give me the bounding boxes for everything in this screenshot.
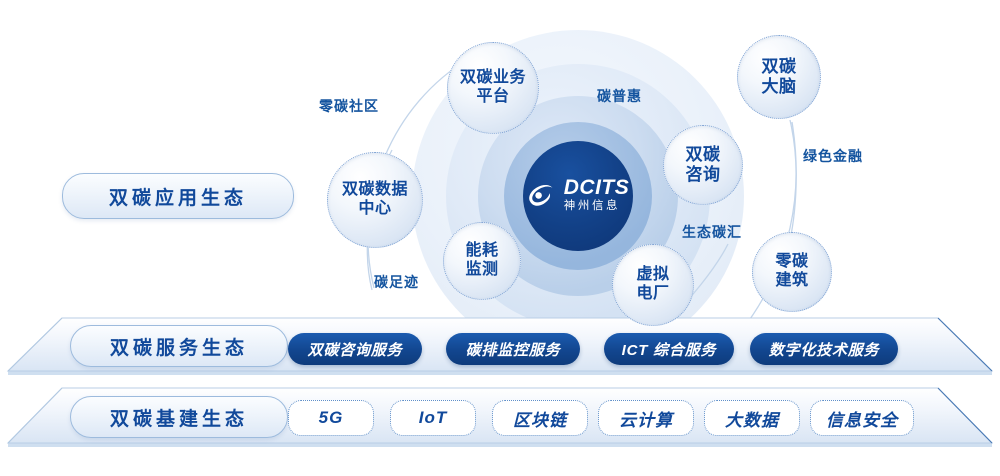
floating-label-green-finance: 绿色金融 (803, 146, 863, 166)
bubble-label: 双碳业务 平台 (460, 69, 526, 106)
infra-item-label: 区块链 (513, 406, 567, 431)
infra-item-cloud-computing[interactable]: 云计算 (598, 400, 694, 436)
bubble-carbon-business-platform[interactable]: 双碳业务 平台 (447, 42, 539, 134)
bubble-virtual-power-plant[interactable]: 虚拟 电厂 (612, 244, 694, 326)
bubble-zero-carbon-building[interactable]: 零碳 建筑 (752, 232, 832, 312)
dcits-logo: DCITS 神州信息 (527, 177, 630, 213)
service-item-digital-technology[interactable]: 数字化技术服务 (750, 333, 898, 365)
application-layer-title: 双碳应用生态 (62, 173, 294, 219)
infra-item-iot[interactable]: IoT (390, 400, 476, 436)
swoosh-icon (527, 182, 557, 209)
infra-item-label: IoT (419, 408, 448, 428)
infrastructure-layer-title-text: 双碳基建生态 (110, 404, 248, 431)
infra-item-big-data[interactable]: 大数据 (704, 400, 800, 436)
service-layer-title-text: 双碳服务生态 (110, 333, 248, 360)
bubble-carbon-consulting[interactable]: 双碳 咨询 (663, 125, 743, 205)
infra-item-5g[interactable]: 5G (288, 400, 374, 436)
service-item-carbon-emission-monitoring[interactable]: 碳排监控服务 (446, 333, 580, 365)
floating-label-carbon-inclusion: 碳普惠 (597, 86, 642, 106)
service-item-label: ICT 综合服务 (622, 339, 717, 360)
floating-label-zero-carbon-community: 零碳社区 (319, 96, 379, 116)
service-item-label: 数字化技术服务 (769, 339, 880, 360)
bubble-carbon-data-center[interactable]: 双碳数据 中心 (327, 152, 423, 248)
bubble-carbon-brain[interactable]: 双碳 大脑 (737, 35, 821, 119)
infra-item-label: 云计算 (619, 406, 673, 431)
bubble-label: 零碳 建筑 (775, 253, 808, 290)
infra-item-blockchain[interactable]: 区块链 (492, 400, 588, 436)
bubble-label: 能耗 监测 (465, 242, 498, 279)
service-layer-title: 双碳服务生态 (70, 325, 288, 367)
infra-item-label: 大数据 (725, 406, 779, 431)
service-item-carbon-consulting[interactable]: 双碳咨询服务 (288, 333, 422, 365)
application-layer-title-text: 双碳应用生态 (109, 183, 247, 210)
service-item-label: 双碳咨询服务 (308, 339, 403, 360)
center-logo-node: DCITS 神州信息 (523, 141, 633, 251)
infra-item-label: 5G (319, 408, 344, 428)
floating-label-carbon-footprint: 碳足迹 (374, 272, 419, 292)
logo-chinese-text: 神州信息 (564, 201, 620, 213)
service-item-ict-integrated[interactable]: ICT 综合服务 (604, 333, 734, 365)
infra-item-label: 信息安全 (826, 406, 898, 431)
logo-latin-text: DCITS (564, 177, 630, 198)
infra-item-information-security[interactable]: 信息安全 (810, 400, 914, 436)
bubble-energy-consumption-monitoring[interactable]: 能耗 监测 (443, 222, 521, 300)
diagram-canvas: 双碳应用生态 DCITS 神州信息 双碳业务 平台 双碳 大脑 双碳数据 (0, 0, 1000, 476)
bubble-label: 双碳 大脑 (762, 57, 797, 96)
service-item-label: 碳排监控服务 (466, 339, 561, 360)
infrastructure-layer-title: 双碳基建生态 (70, 396, 288, 438)
floating-label-ecological-carbon-sink: 生态碳汇 (682, 222, 742, 242)
bubble-label: 双碳 咨询 (686, 145, 721, 184)
bubble-label: 双碳数据 中心 (342, 181, 408, 218)
bubble-label: 虚拟 电厂 (636, 266, 669, 303)
